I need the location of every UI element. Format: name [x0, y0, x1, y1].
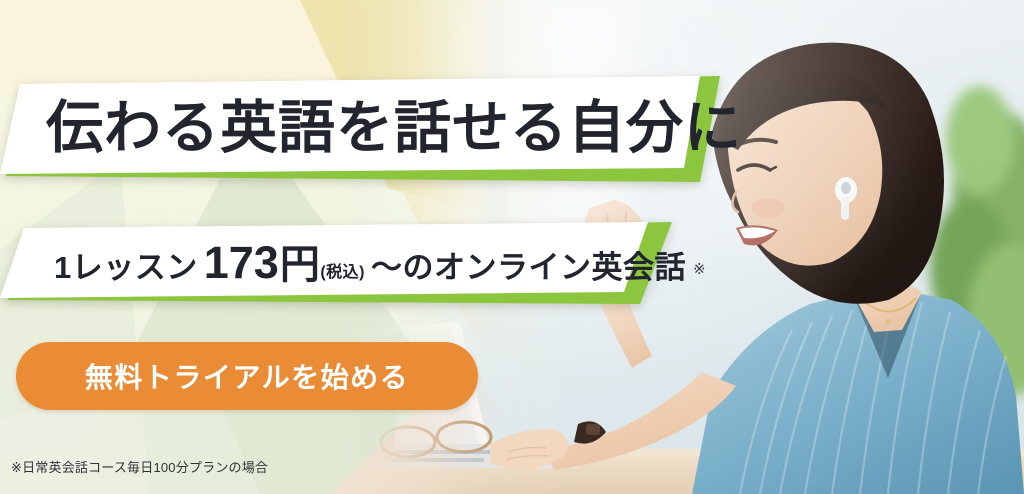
reference-mark: ※ [686, 262, 706, 277]
price-banner: 1レッスン173円(税込)〜のオンライン英会話※ [0, 222, 672, 308]
price-lead: 1レッスン [54, 252, 198, 283]
headline-banner: 伝わる英語を話せる自分に [0, 76, 720, 186]
price-amount: 173 [198, 240, 280, 285]
price-tail: 〜のオンライン英会話 [365, 252, 686, 283]
hero-banner: 伝わる英語を話せる自分に 1レッスン173円(税込)〜のオンライン英会話※ 無料… [0, 0, 1024, 494]
free-trial-cta-button[interactable]: 無料トライアルを始める [16, 342, 478, 410]
price-currency: 円 [280, 245, 321, 285]
headline-text: 伝わる英語を話せる自分に [46, 100, 742, 157]
price-tax-note: (税込) [320, 265, 365, 281]
price-text: 1レッスン173円(税込)〜のオンライン英会話※ [54, 240, 706, 285]
footnote-text: ※日常英会話コース毎日100分プランの場合 [11, 457, 268, 476]
